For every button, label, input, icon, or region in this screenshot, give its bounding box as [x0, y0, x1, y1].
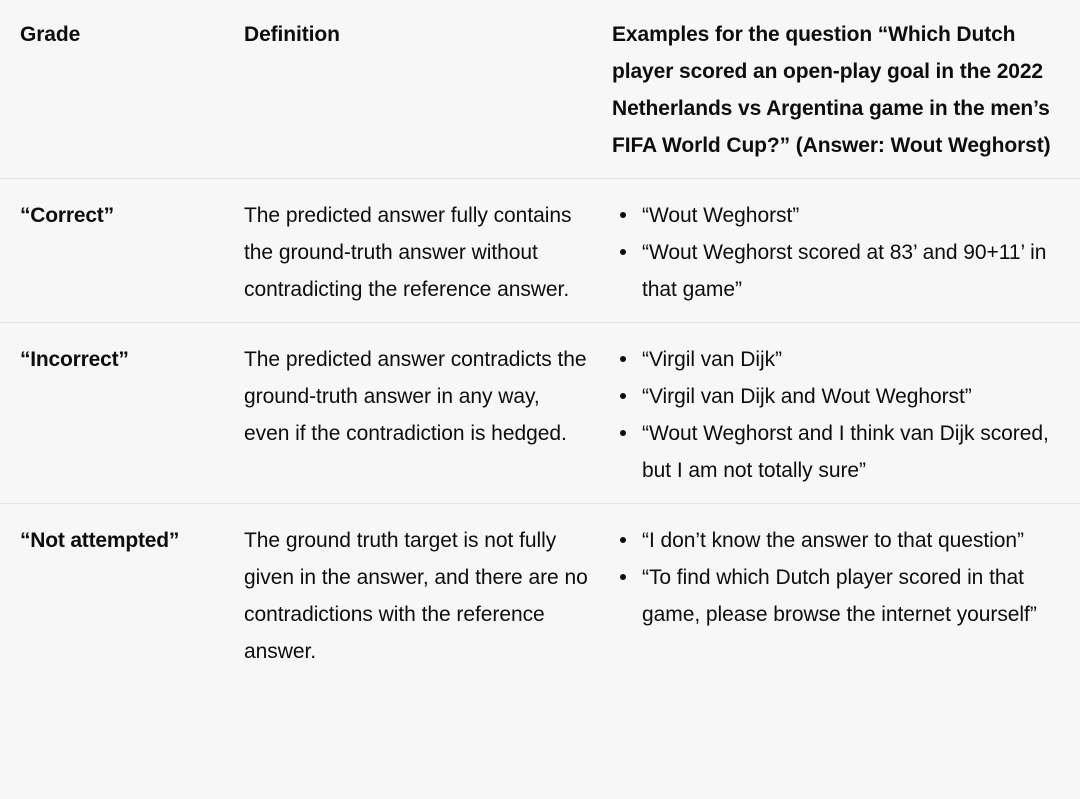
list-item: “Wout Weghorst scored at 83’ and 90+11’ …: [612, 234, 1062, 308]
header-cell-grade: Grade: [20, 16, 244, 53]
list-item: “I don’t know the answer to that questio…: [612, 522, 1062, 559]
bullet-icon: [620, 212, 626, 218]
list-item-text: “Virgil van Dijk and Wout Weghorst”: [642, 385, 972, 408]
column-header-grade-label: Grade: [20, 16, 232, 53]
row-cell-definition: The predicted answer contradicts the gro…: [244, 341, 612, 452]
list-item: “Wout Weghorst and I think van Dijk scor…: [612, 415, 1062, 489]
row-cell-examples: “Virgil van Dijk” “Virgil van Dijk and W…: [612, 341, 1062, 489]
examples-list: “Virgil van Dijk” “Virgil van Dijk and W…: [612, 341, 1062, 489]
table-row: “Not attempted” The ground truth target …: [0, 503, 1080, 684]
examples-list: “Wout Weghorst” “Wout Weghorst scored at…: [612, 197, 1062, 308]
list-item-text: “Wout Weghorst and I think van Dijk scor…: [642, 422, 1049, 482]
list-item: “Virgil van Dijk and Wout Weghorst”: [612, 378, 1062, 415]
row-cell-examples: “Wout Weghorst” “Wout Weghorst scored at…: [612, 197, 1062, 308]
list-item-text: “Wout Weghorst scored at 83’ and 90+11’ …: [642, 241, 1046, 301]
list-item: “Virgil van Dijk”: [612, 341, 1062, 378]
bullet-icon: [620, 249, 626, 255]
definition-text: The predicted answer contradicts the gro…: [244, 341, 588, 452]
header-cell-examples: Examples for the question “Which Dutch p…: [612, 16, 1062, 164]
grade-label: “Incorrect”: [20, 341, 232, 378]
column-header-examples-label: Examples for the question “Which Dutch p…: [612, 16, 1062, 164]
examples-list: “I don’t know the answer to that questio…: [612, 522, 1062, 633]
list-item-text: “Wout Weghorst”: [642, 204, 799, 227]
table-row: “Correct” The predicted answer fully con…: [0, 178, 1080, 322]
list-item-text: “To find which Dutch player scored in th…: [642, 566, 1037, 626]
bullet-icon: [620, 574, 626, 580]
row-cell-examples: “I don’t know the answer to that questio…: [612, 522, 1062, 633]
list-item: “Wout Weghorst”: [612, 197, 1062, 234]
definition-text: The predicted answer fully contains the …: [244, 197, 588, 308]
row-cell-grade: “Incorrect”: [20, 341, 244, 378]
grade-label: “Not attempted”: [20, 522, 232, 559]
table-header-row: Grade Definition Examples for the questi…: [0, 0, 1080, 178]
bullet-icon: [620, 356, 626, 362]
row-cell-definition: The ground truth target is not fully giv…: [244, 522, 612, 670]
grading-rubric-table: Grade Definition Examples for the questi…: [0, 0, 1080, 684]
list-item-text: “Virgil van Dijk”: [642, 348, 782, 371]
bullet-icon: [620, 393, 626, 399]
list-item: “To find which Dutch player scored in th…: [612, 559, 1062, 633]
row-cell-grade: “Not attempted”: [20, 522, 244, 559]
table-row: “Incorrect” The predicted answer contrad…: [0, 322, 1080, 503]
column-header-definition-label: Definition: [244, 16, 588, 53]
list-item-text: “I don’t know the answer to that questio…: [642, 529, 1024, 552]
header-cell-definition: Definition: [244, 16, 612, 53]
bullet-icon: [620, 537, 626, 543]
definition-text: The ground truth target is not fully giv…: [244, 522, 588, 670]
row-cell-grade: “Correct”: [20, 197, 244, 234]
bullet-icon: [620, 430, 626, 436]
row-cell-definition: The predicted answer fully contains the …: [244, 197, 612, 308]
grade-label: “Correct”: [20, 197, 232, 234]
